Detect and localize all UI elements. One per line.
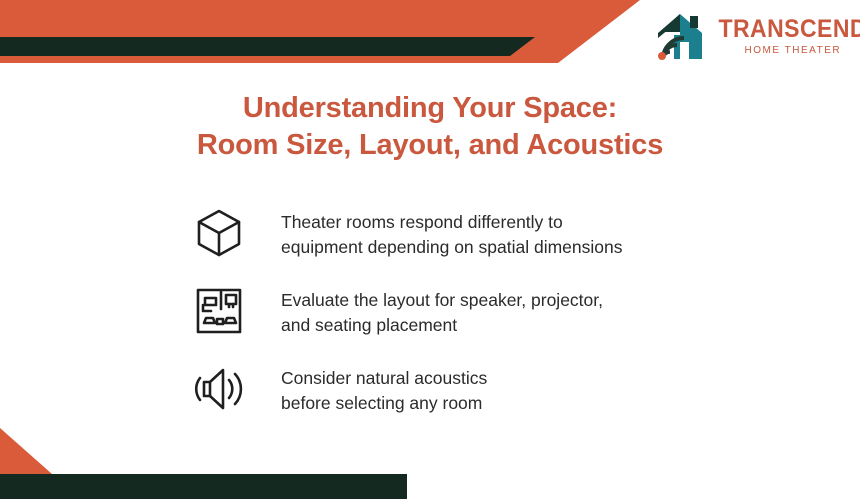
title-line-2: Room Size, Layout, and Acoustics — [0, 127, 860, 164]
logo-wordmark: TRANSCEND HOME THEATER — [712, 17, 860, 56]
bullet-text-acoustics: Consider natural acoustics before select… — [281, 362, 487, 416]
bottom-orange-corner-triangle — [0, 428, 52, 474]
cube-icon — [190, 206, 248, 260]
page-title: Understanding Your Space: Room Size, Lay… — [0, 90, 860, 164]
title-line-1: Understanding Your Space: — [0, 90, 860, 127]
slide-canvas: TRANSCEND HOME THEATER Understanding You… — [0, 0, 860, 499]
speaker-sound-icon — [190, 362, 248, 416]
bullet-text-line-2: and seating placement — [281, 313, 603, 338]
bullet-text-line-2: equipment depending on spatial dimension… — [281, 235, 623, 260]
logo-tagline: HOME THEATER — [744, 45, 841, 56]
top-green-angled-band — [0, 37, 535, 56]
bullet-list: Theater rooms respond differently to equ… — [190, 206, 710, 416]
bullet-text-line-1: Consider natural acoustics — [281, 366, 487, 391]
floor-plan-icon — [190, 284, 248, 338]
bullet-item-acoustics: Consider natural acoustics before select… — [190, 362, 710, 416]
bullet-text-line-2: before selecting any room — [281, 391, 487, 416]
bullet-item-room-size: Theater rooms respond differently to equ… — [190, 206, 710, 260]
bullet-text-line-1: Theater rooms respond differently to — [281, 210, 623, 235]
bullet-item-layout: Evaluate the layout for speaker, project… — [190, 284, 710, 338]
top-orange-angled-band — [0, 0, 640, 63]
bottom-green-footer-bar — [0, 474, 407, 499]
logo-brand-name: TRANSCEND — [718, 17, 860, 42]
house-with-signal-waves-icon — [652, 9, 708, 63]
brand-logo: TRANSCEND HOME THEATER — [652, 8, 832, 64]
bullet-text-line-1: Evaluate the layout for speaker, project… — [281, 288, 603, 313]
bullet-text-room-size: Theater rooms respond differently to equ… — [281, 206, 623, 260]
bullet-text-layout: Evaluate the layout for speaker, project… — [281, 284, 603, 338]
